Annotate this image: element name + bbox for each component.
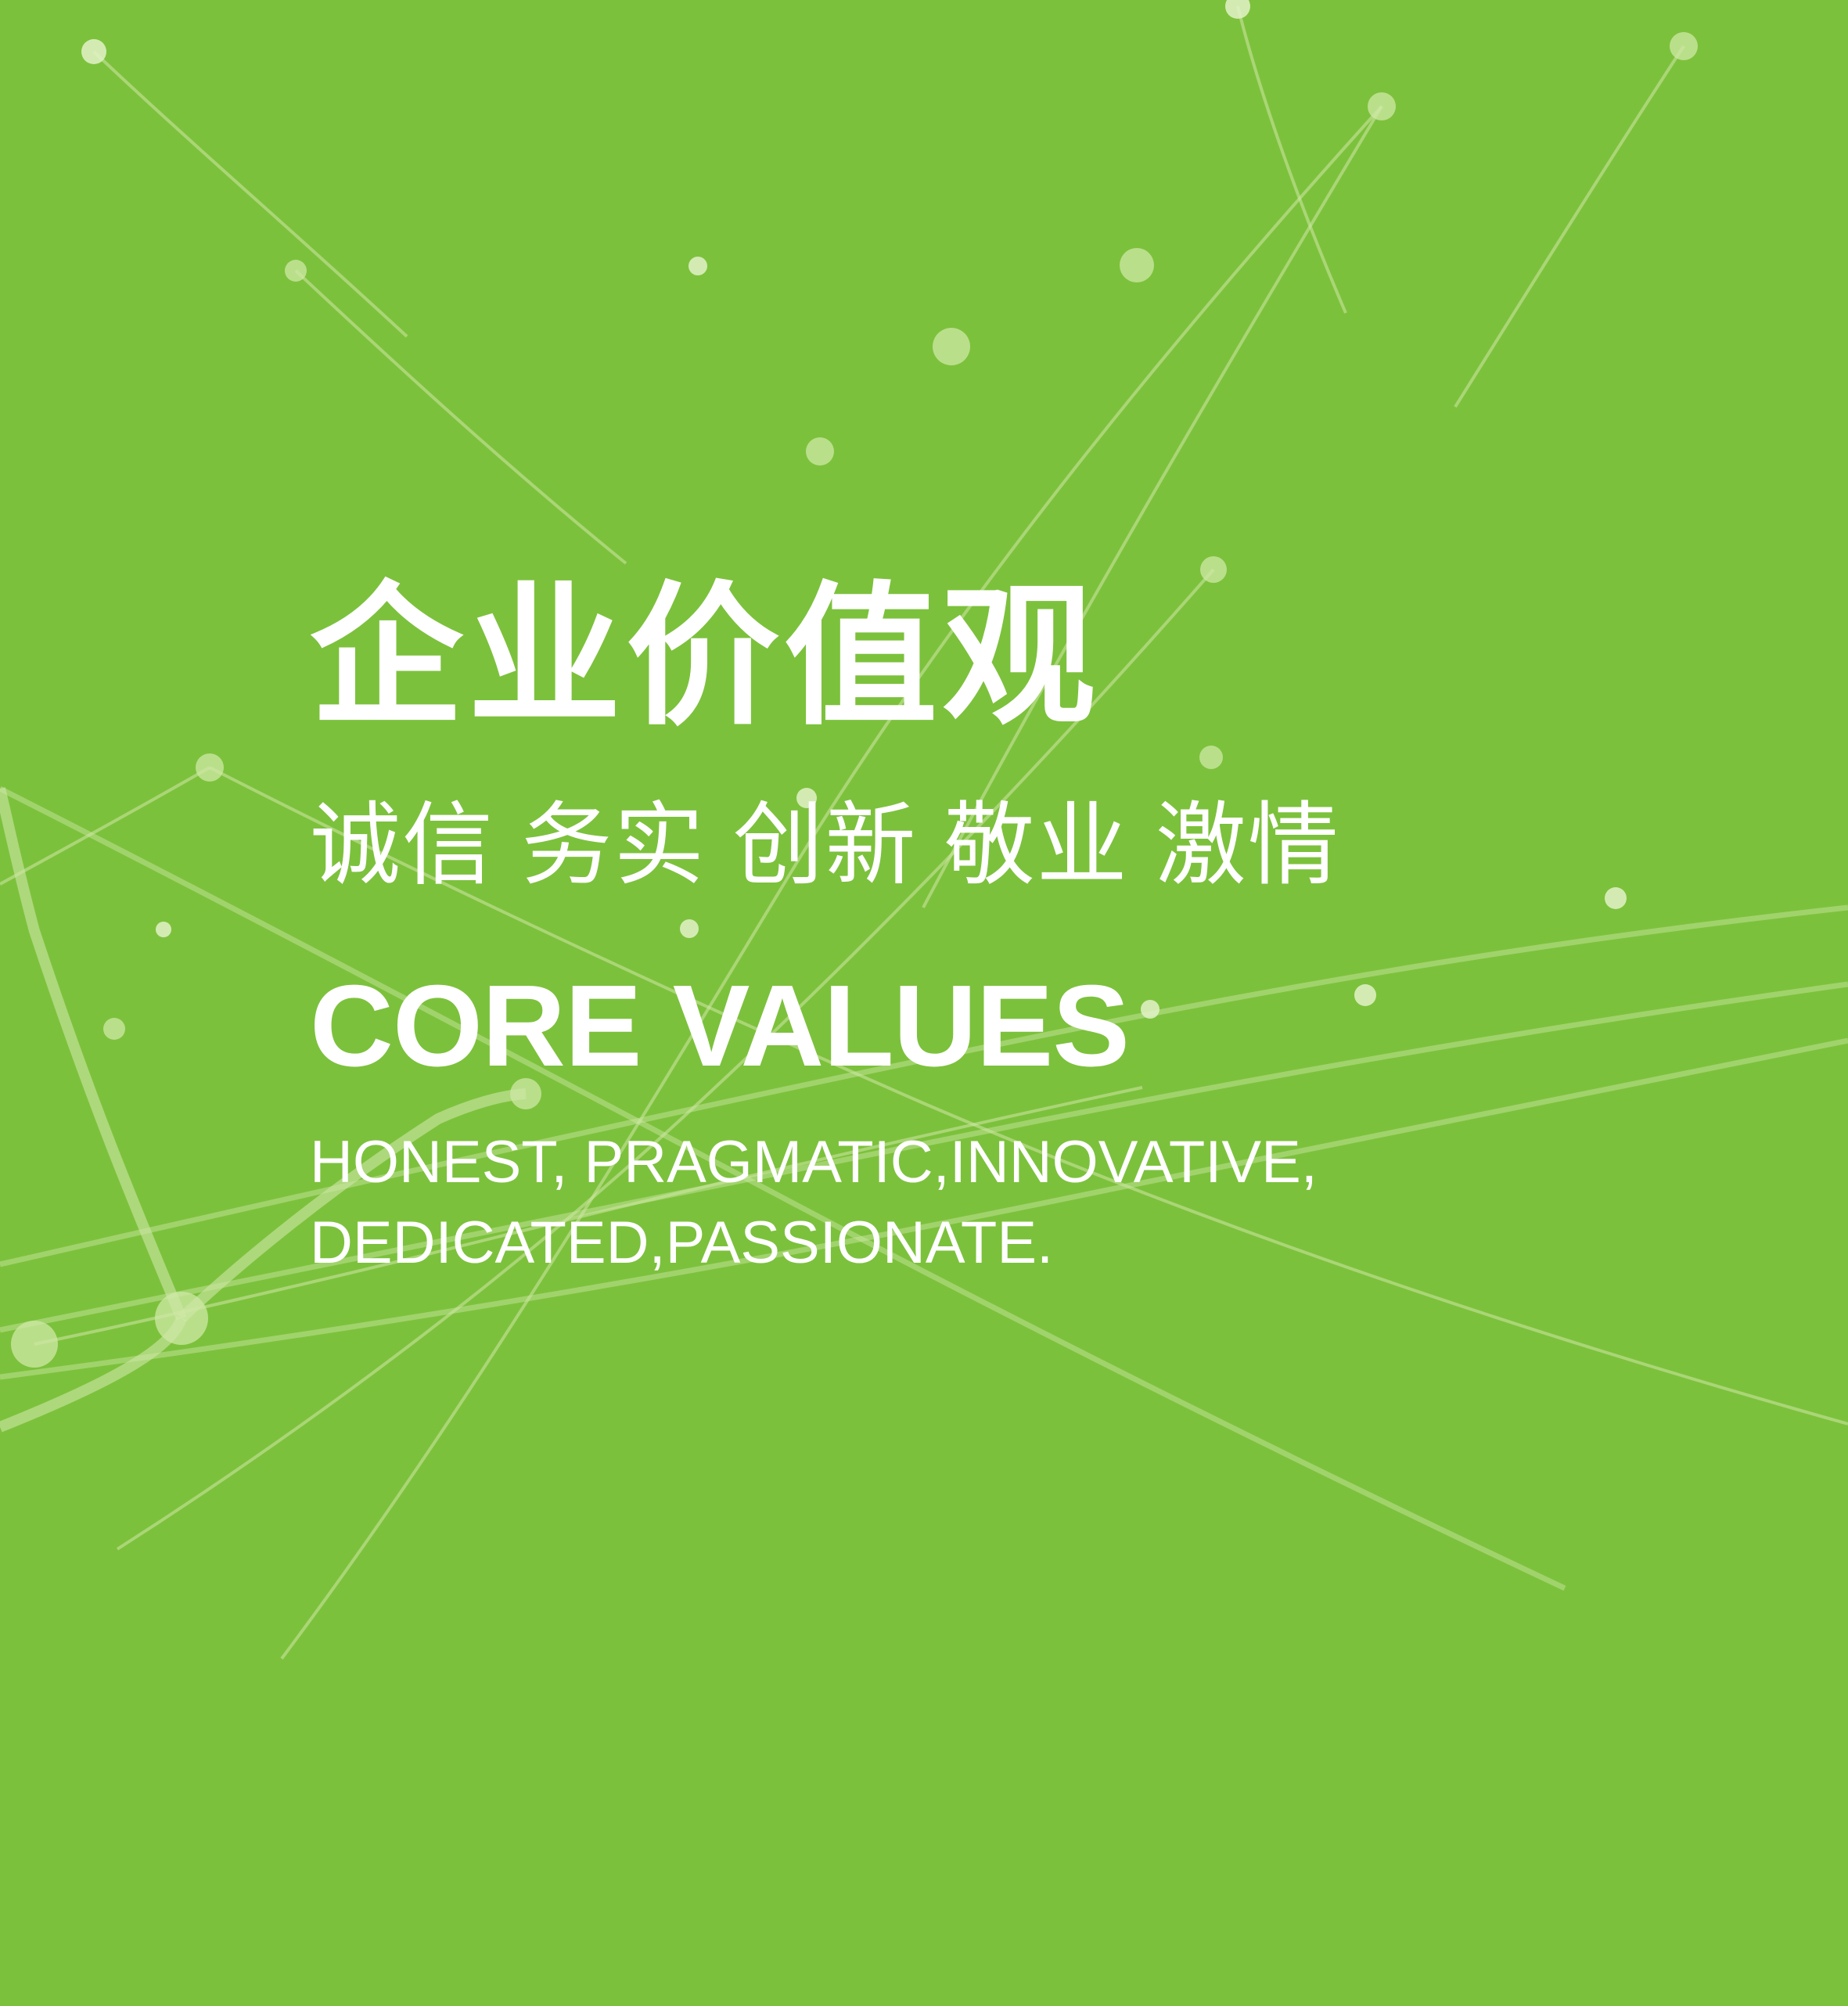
headline-block: 企业价值观 诚信 务实 创新 敬业 激情 CORE VALUES HONEST,…: [310, 581, 1687, 1284]
chinese-subtitle: 诚信 务实 创新 敬业 激情: [310, 800, 1687, 890]
core-values-poster: .ln { fill:none; stroke:#CFE8A6; stroke-…: [0, 0, 1848, 2006]
english-title: CORE VALUES: [310, 969, 1687, 1084]
english-subtitle-line-2: DEDICATED,PASSIONATE.: [310, 1203, 1640, 1283]
chinese-title: 企业价值观: [310, 581, 1687, 734]
english-subtitle: HONEST, PRAGMATIC,INNOVATIVE, DEDICATED,…: [310, 1122, 1640, 1284]
english-subtitle-line-1: HONEST, PRAGMATIC,INNOVATIVE,: [310, 1122, 1640, 1203]
